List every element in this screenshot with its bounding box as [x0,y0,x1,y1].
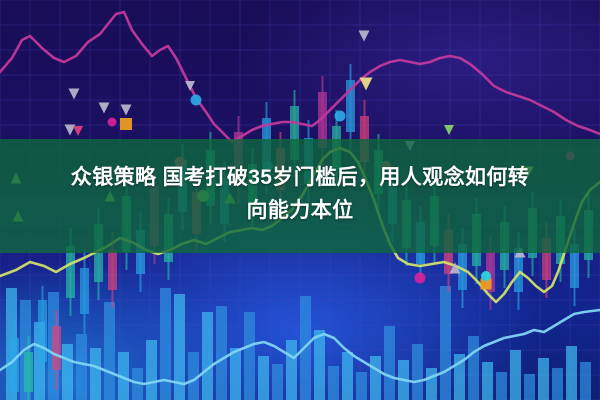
volume-bar [202,312,213,400]
volume-bar [370,356,381,400]
volume-bar [524,374,535,400]
volume-bars [6,286,591,400]
volume-bar [104,302,115,400]
volume-bar [90,348,101,400]
volume-bar [510,350,521,400]
volume-bar [286,340,297,400]
volume-bar [146,340,157,400]
volume-bar [384,326,395,400]
volume-bar [216,306,227,400]
volume-bar [412,344,423,400]
volume-bar [538,358,549,400]
volume-bar [244,312,255,400]
volume-bar [230,348,241,400]
volume-bar [426,368,437,400]
volume-bar [342,352,353,400]
volume-bar [468,336,479,400]
volume-bar [272,364,283,400]
volume-bar [566,346,577,400]
price-line-magenta [0,12,600,142]
volume-bar [496,372,507,400]
volume-bar [440,286,451,400]
volume-bar [258,356,269,400]
page-title: 众银策略 国考打破35岁门槛后，用人观念如何转 向能力本位 [0,161,600,227]
volume-bar [62,344,73,400]
volume-bar [160,288,171,400]
volume-bar [328,366,339,400]
volume-bar [580,362,591,400]
volume-bar [552,368,563,400]
volume-bar [76,334,87,400]
volume-bar [314,330,325,400]
chart-banner-image: 众银策略 国考打破35岁门槛后，用人观念如何转 向能力本位 [0,0,600,400]
volume-bar [482,362,493,400]
volume-bar [356,372,367,400]
